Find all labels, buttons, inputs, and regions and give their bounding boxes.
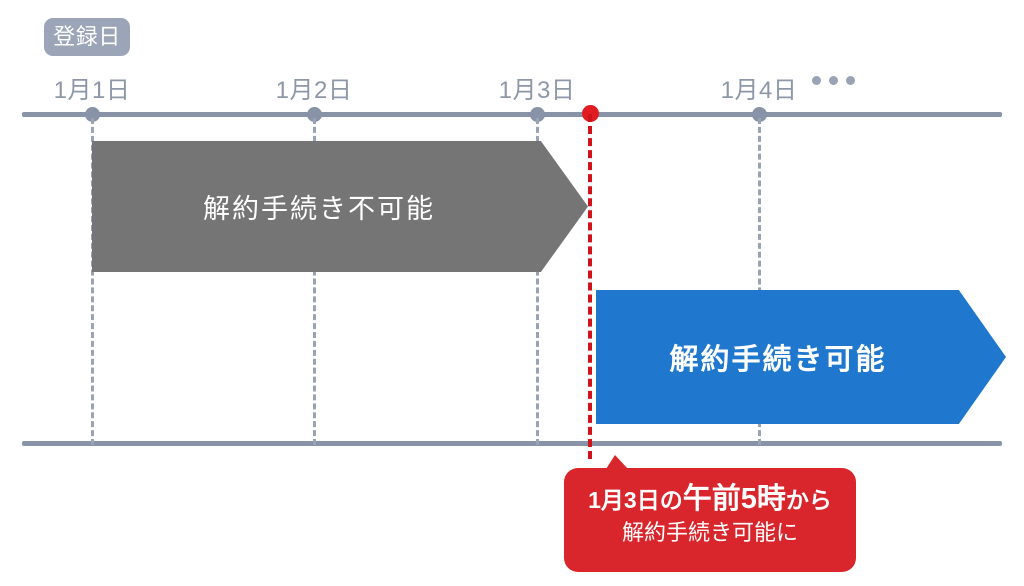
callout-emphasis: 午前5時	[683, 483, 786, 515]
date-label-jan4: 1月4日	[699, 70, 819, 105]
callout-tail-icon	[606, 455, 628, 469]
date-label-jan2: 1月2日	[254, 70, 374, 105]
ellipsis-dot-1	[812, 76, 821, 85]
guide-line-current-time	[588, 114, 592, 459]
timeline-diagram: 登録日 1月1日 1月2日 1月3日 1月4日 解約手続き不可能 解約手続き可能…	[0, 0, 1024, 586]
ellipsis-dot-3	[846, 76, 855, 85]
band-available-label: 解約手続き可能	[669, 336, 886, 378]
ellipsis-icon	[812, 76, 855, 85]
band-unavailable-label: 解約手続き不可能	[203, 187, 435, 226]
date-label-jan1: 1月1日	[32, 70, 152, 105]
band-cancellation-available: 解約手続き可能	[596, 290, 1006, 424]
timeline-axis-bottom	[22, 441, 1002, 446]
callout-line-1: 1月3日の午前5時から	[564, 482, 856, 517]
band-cancellation-unavailable: 解約手続き不可能	[92, 141, 588, 272]
callout-box: 1月3日の午前5時から 解約手続き可能に	[564, 468, 856, 572]
callout-suffix: から	[786, 487, 832, 513]
ellipsis-dot-2	[829, 76, 838, 85]
callout-prefix: 1月3日の	[588, 487, 683, 513]
registration-date-badge: 登録日	[44, 18, 130, 56]
date-label-jan3: 1月3日	[477, 70, 597, 105]
callout-line-2: 解約手続き可能に	[564, 517, 856, 549]
timeline-axis-top	[22, 112, 1002, 117]
